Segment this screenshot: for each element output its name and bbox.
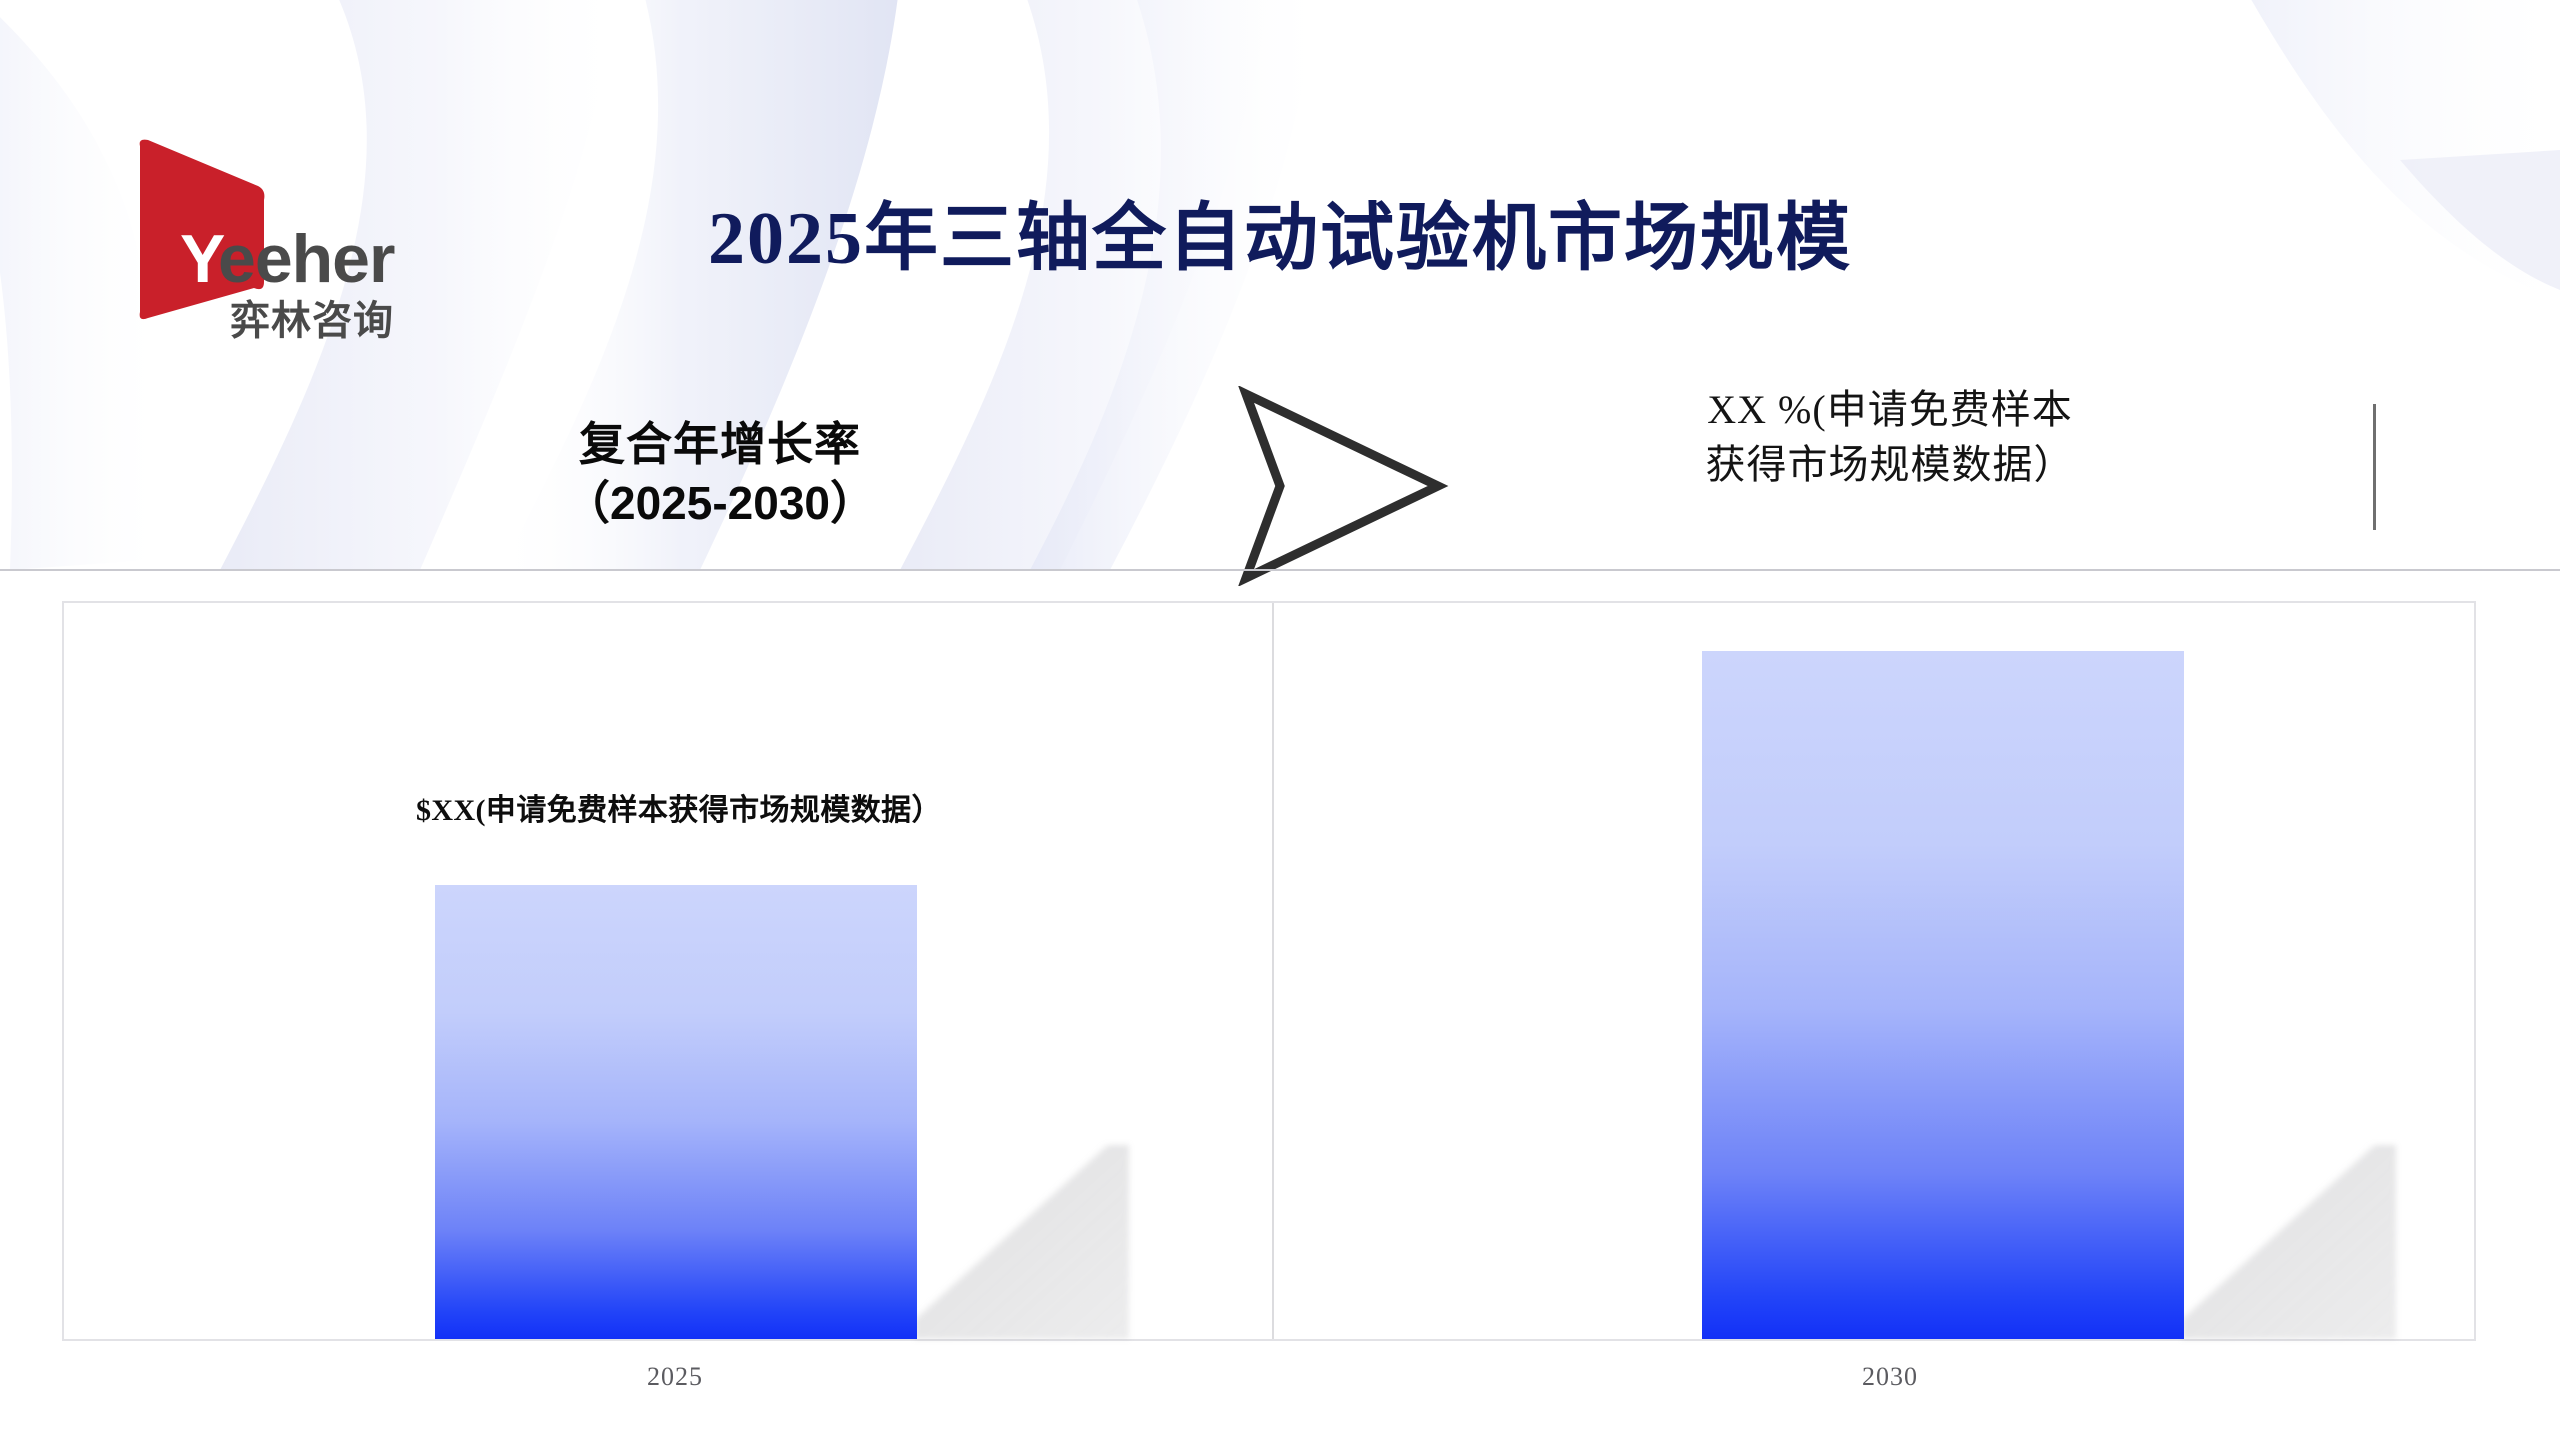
cagr-value-block: XX %(申请免费样本 获得市场规模数据） <box>1600 382 2180 492</box>
slide-root: Y eeher 弈林咨询 2025年三轴全自动试验机市场规模 复合年增长率 （2… <box>0 0 2560 1440</box>
bar-shadow-2025 <box>915 1145 1129 1339</box>
header-divider <box>0 569 2560 571</box>
right-vertical-rule <box>2373 404 2376 530</box>
cagr-value-line1: XX %(申请免费样本 <box>1600 382 2180 437</box>
arrow-right-outline-icon <box>1232 386 1452 586</box>
page-title: 2025年三轴全自动试验机市场规模 <box>0 178 2560 285</box>
bar-shadow-2030 <box>2182 1145 2396 1339</box>
bar-chart-panel: $XX(申请免费样本获得市场规模数据） <box>62 601 2476 1341</box>
cagr-label-line1: 复合年增长率 <box>470 415 970 474</box>
bar-cell-2030 <box>1274 603 2476 1339</box>
bar-2025[interactable] <box>435 885 917 1339</box>
x-tick-label-2030: 2030 <box>1685 1362 2095 1392</box>
cagr-value-line2: 获得市场规模数据） <box>1600 437 2180 492</box>
bar-2030[interactable] <box>1702 651 2184 1339</box>
svg-text:弈林咨询: 弈林咨询 <box>230 298 394 343</box>
bar-value-label-2025: $XX(申请免费样本获得市场规模数据） <box>416 791 936 832</box>
x-tick-label-2025: 2025 <box>470 1362 880 1392</box>
bar-cell-2025: $XX(申请免费样本获得市场规模数据） <box>64 603 1272 1339</box>
cagr-label-line2: （2025-2030） <box>470 474 970 533</box>
cagr-label-block: 复合年增长率 （2025-2030） <box>470 415 970 533</box>
